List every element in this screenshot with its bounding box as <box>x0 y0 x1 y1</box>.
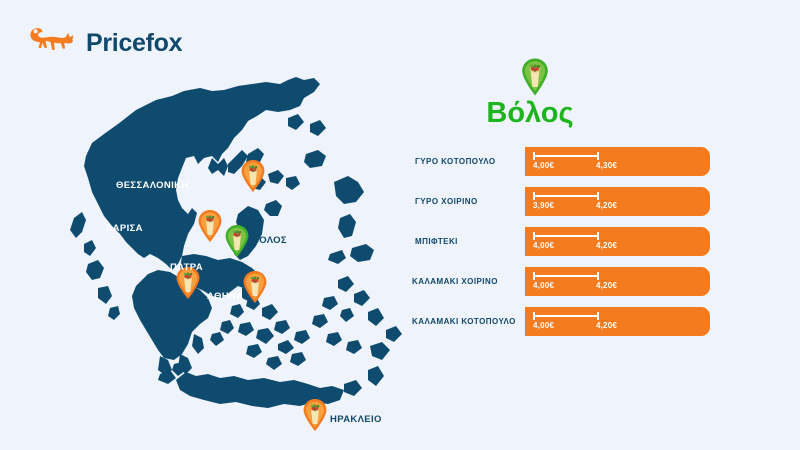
range-cap-min <box>533 312 535 320</box>
price-row[interactable]: ΚΑΛΑΜΑΚΙ ΧΟΙΡΙΝΟ 4,00€ 4,20€ <box>415 267 775 296</box>
range-line <box>533 315 599 317</box>
range-line <box>533 275 599 277</box>
greece-map[interactable]: ΘΕΣΣΑΛΟΝΙΚΗ ΛΑΡΙΣΑ ΒΟΛΟΣ ΠΑΤΡΑ <box>52 58 407 418</box>
gyro-pin-icon <box>520 57 550 97</box>
product-label: ΜΠΙΦΤΕΚΙ <box>415 227 522 256</box>
map-label-1: ΛΑΡΙΣΑ <box>106 224 143 234</box>
product-label: ΚΑΛΑΜΑΚΙ ΧΟΙΡΙΝΟ <box>412 267 522 296</box>
price-range-bar[interactable]: 4,00€ 4,30€ <box>525 147 710 176</box>
gyro-pin-icon[interactable] <box>242 270 268 304</box>
city-price-panel: Βόλος ΓΥΡΟ ΚΟΤΟΠΟΥΛΟ 4,00€ 4,30€ ΓΥΡΟ ΧΟ… <box>415 55 775 355</box>
min-price: 4,00€ <box>533 281 554 290</box>
range-cap-min <box>533 272 535 280</box>
min-price: 4,00€ <box>533 161 554 170</box>
map-label-3: ΠΑΤΡΑ <box>170 263 203 273</box>
map-label-0: ΘΕΣΣΑΛΟΝΙΚΗ <box>116 181 189 191</box>
max-price: 4,30€ <box>596 161 617 170</box>
max-price: 4,20€ <box>596 321 617 330</box>
gyro-pin-icon[interactable] <box>197 209 223 243</box>
infographic-page: Pricefox <box>0 0 800 450</box>
price-values: 4,00€ 4,30€ <box>533 161 617 170</box>
product-label: ΚΑΛΑΜΑΚΙ ΚΟΤΟΠΟΥΛΟ <box>412 307 522 336</box>
map-label-4: ΑΘΗΝΑ <box>207 292 243 302</box>
price-row[interactable]: ΓΥΡΟ ΧΟΙΡΙΝΟ 3,90€ 4,20€ <box>415 187 775 216</box>
price-row[interactable]: ΜΠΙΦΤΕΚΙ 4,00€ 4,20€ <box>415 227 775 256</box>
gyro-pin-icon[interactable] <box>302 398 328 432</box>
product-label: ΓΥΡΟ ΧΟΙΡΙΝΟ <box>415 187 522 216</box>
range-indicator <box>533 152 599 159</box>
price-range-bar[interactable]: 3,90€ 4,20€ <box>525 187 710 216</box>
min-price: 4,00€ <box>533 241 554 250</box>
range-line <box>533 195 599 197</box>
brand-name: Pricefox <box>86 31 182 56</box>
range-indicator <box>533 312 599 319</box>
price-range-bar[interactable]: 4,00€ 4,20€ <box>525 227 710 256</box>
range-indicator <box>533 192 599 199</box>
range-indicator <box>533 272 599 279</box>
gyro-pin-icon[interactable] <box>240 159 266 193</box>
product-label: ΓΥΡΟ ΚΟΤΟΠΟΥΛΟ <box>415 147 522 176</box>
range-cap-max <box>597 232 599 240</box>
max-price: 4,20€ <box>596 241 617 250</box>
panel-header: Βόλος <box>415 55 775 135</box>
range-cap-min <box>533 232 535 240</box>
brand-logo[interactable]: Pricefox <box>28 26 182 61</box>
max-price: 4,20€ <box>596 281 617 290</box>
price-row[interactable]: ΚΑΛΑΜΑΚΙ ΚΟΤΟΠΟΥΛΟ 4,00€ 4,20€ <box>415 307 775 336</box>
price-range-bar[interactable]: 4,00€ 4,20€ <box>525 267 710 296</box>
map-label-5: ΗΡΑΚΛΕΙΟ <box>330 415 382 425</box>
fox-icon <box>28 26 78 61</box>
range-cap-max <box>597 312 599 320</box>
map-label-2: ΒΟΛΟΣ <box>252 236 287 246</box>
gyro-pin-icon[interactable] <box>224 224 250 258</box>
price-range-bar[interactable]: 4,00€ 4,20€ <box>525 307 710 336</box>
range-line <box>533 235 599 237</box>
max-price: 4,20€ <box>596 201 617 210</box>
panel-city-title: Βόλος <box>415 99 645 128</box>
min-price: 3,90€ <box>533 201 554 210</box>
range-line <box>533 155 599 157</box>
range-cap-max <box>597 272 599 280</box>
price-values: 4,00€ 4,20€ <box>533 321 617 330</box>
min-price: 4,00€ <box>533 321 554 330</box>
range-indicator <box>533 232 599 239</box>
range-cap-min <box>533 192 535 200</box>
range-cap-max <box>597 152 599 160</box>
range-cap-max <box>597 192 599 200</box>
price-values: 4,00€ 4,20€ <box>533 281 617 290</box>
price-values: 3,90€ 4,20€ <box>533 201 617 210</box>
price-values: 4,00€ 4,20€ <box>533 241 617 250</box>
price-row[interactable]: ΓΥΡΟ ΚΟΤΟΠΟΥΛΟ 4,00€ 4,30€ <box>415 147 775 176</box>
price-rows: ΓΥΡΟ ΚΟΤΟΠΟΥΛΟ 4,00€ 4,30€ ΓΥΡΟ ΧΟΙΡΙΝΟ … <box>415 147 775 347</box>
range-cap-min <box>533 152 535 160</box>
